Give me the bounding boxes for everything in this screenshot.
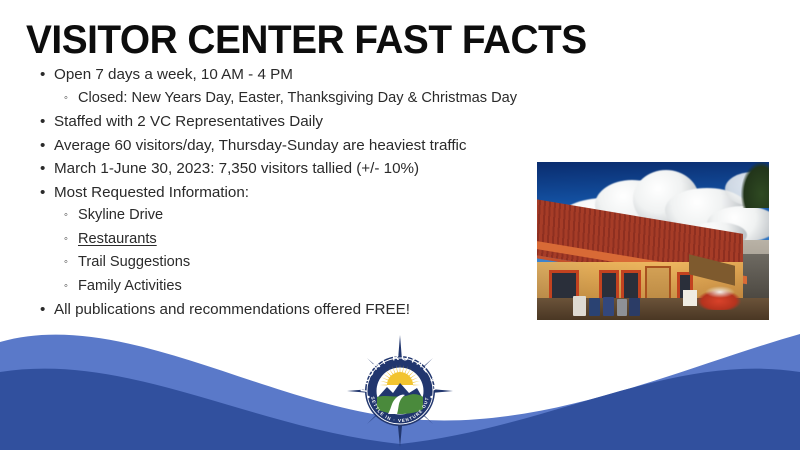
list-item-label: Average 60 visitors/day, Thursday-Sunday… — [54, 137, 467, 154]
bullet-marker-icon: • — [40, 64, 45, 86]
ring-dot — [430, 396, 432, 398]
list-item-label: March 1-June 30, 2023: 7,350 visitors ta… — [54, 160, 419, 177]
sub-list-item: ◦Skyline Drive — [64, 205, 558, 227]
sub-bullet-marker-icon: ◦ — [64, 276, 68, 298]
sub-list-item: ◦Family Activities — [64, 276, 558, 298]
sub-list-item: ◦Trail Suggestions — [64, 252, 558, 274]
list-item: •March 1-June 30, 2023: 7,350 visitors t… — [38, 158, 558, 180]
list-item-label: Most Requested Information: — [54, 184, 249, 201]
bullet-marker-icon: • — [40, 135, 45, 157]
ring-dot — [367, 396, 369, 398]
slide-canvas: VISITOR CENTER FAST FACTS •Open 7 days a… — [0, 0, 800, 450]
list-item: •Staffed with 2 VC Representatives Daily — [38, 111, 558, 133]
front-royal-logo: FRONT ROYAL VA SETTLE IN · VENTURE OUT — [347, 335, 453, 447]
list-item: •Open 7 days a week, 10 AM - 4 PM — [38, 64, 558, 86]
sub-bullet-marker-icon: ◦ — [64, 205, 68, 227]
fast-facts-list: •Open 7 days a week, 10 AM - 4 PM◦Closed… — [38, 64, 558, 323]
sub-list-item-label: Trail Suggestions — [78, 254, 190, 270]
sign-board — [683, 290, 697, 306]
sub-list-item: ◦Closed: New Years Day, Easter, Thanksgi… — [64, 88, 558, 110]
sub-list-item-link[interactable]: Restaurants — [78, 231, 157, 247]
list-item-label: Staffed with 2 VC Representatives Daily — [54, 113, 323, 130]
sub-list-item[interactable]: ◦Restaurants — [64, 229, 558, 251]
list-item: •Most Requested Information: — [38, 182, 558, 204]
sub-list: ◦Skyline Drive◦Restaurants◦Trail Suggest… — [38, 205, 558, 297]
bullet-marker-icon: • — [40, 158, 45, 180]
sub-bullet-marker-icon: ◦ — [64, 88, 68, 110]
bullet-marker-icon: • — [40, 182, 45, 204]
list-item-label: Open 7 days a week, 10 AM - 4 PM — [54, 66, 293, 83]
tree-foliage — [741, 162, 769, 208]
sub-bullet-marker-icon: ◦ — [64, 252, 68, 274]
sub-list-item-label: Closed: New Years Day, Easter, Thanksgiv… — [78, 90, 517, 106]
list-item: •Average 60 visitors/day, Thursday-Sunda… — [38, 135, 558, 157]
sub-list: ◦Closed: New Years Day, Easter, Thanksgi… — [38, 88, 558, 110]
sub-bullet-marker-icon: ◦ — [64, 229, 68, 251]
sub-list-item-label: Family Activities — [78, 278, 182, 294]
flower-display-highlight — [705, 286, 735, 298]
page-title: VISITOR CENTER FAST FACTS — [26, 18, 587, 62]
visitor-center-photo — [537, 162, 769, 320]
bullet-marker-icon: • — [40, 111, 45, 133]
sub-list-item-label: Skyline Drive — [78, 207, 163, 223]
